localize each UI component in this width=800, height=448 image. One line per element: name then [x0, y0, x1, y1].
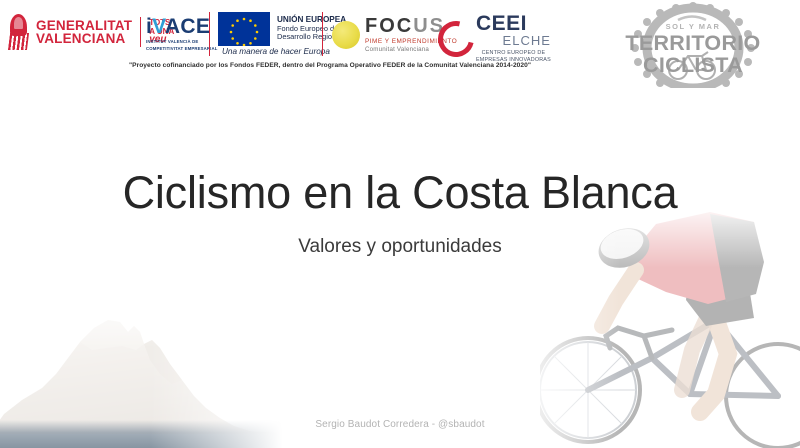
page-subtitle: Valores y oportunidades — [0, 235, 800, 259]
generalitat-divider — [140, 17, 141, 47]
ivace-sub-line2: COMPETITIVITAT EMPRESARIAL — [146, 46, 218, 51]
presentation-slide: GENERALITAT VALENCIANA TOTS A UNA veu iV… — [0, 0, 800, 448]
feder-disclaimer-text: "Proyecto cofinanciado por los Fondos FE… — [0, 62, 660, 69]
territorio-wordmark: TERRITORIO CICLISTA — [598, 32, 788, 76]
logo-divider-ivace-eu — [209, 12, 210, 56]
ceei-wordmark: CEEI — [476, 14, 527, 34]
generalitat-line2: VALENCIANA — [36, 32, 132, 46]
eu-flag-icon — [218, 12, 270, 46]
sponsor-logo-strip: GENERALITAT VALENCIANA TOTS A UNA veu iV… — [0, 0, 800, 72]
generalitat-crest-icon — [8, 14, 29, 50]
territorio-sol-y-mar: SOL Y MAR — [598, 22, 788, 31]
eu-tagline: Una manera de hacer Europa — [222, 47, 330, 56]
ivace-letter-v: V — [152, 15, 165, 38]
author-credit: Sergio Baudot Corredera - @sbaudot — [0, 419, 800, 430]
ceei-c-icon — [431, 14, 481, 64]
territorio-ciclista-logo: SOL Y MAR TERRITORIO CICLISTA — [598, 2, 788, 88]
ceei-city: ELCHE — [476, 34, 551, 47]
european-union-feder-logo: UNIÓN EUROPEA Fondo Europeo de Desarroll… — [218, 12, 346, 46]
ivace-sub-line1: INSTITUT VALENCIÀ DE — [146, 39, 218, 44]
focus-word-foc: FOC — [365, 15, 413, 37]
ivace-logo: iVACE INSTITUT VALENCIÀ DE COMPETITIVITA… — [146, 16, 218, 52]
generalitat-line1: GENERALITAT — [36, 19, 132, 33]
ivace-letters-ace: ACE — [165, 15, 210, 38]
logo-divider-eu-focus — [322, 12, 323, 56]
ceei-elche-logo: CEEI ELCHE CENTRO EUROPEO DE EMPRESAS IN… — [438, 14, 551, 63]
ceei-sub-line1: CENTRO EUROPEO DE — [476, 50, 551, 57]
ivace-wordmark: iVACE — [146, 16, 218, 37]
page-title: Ciclismo en la Costa Blanca — [0, 168, 800, 218]
rock-fade-top — [0, 278, 320, 348]
focus-dot-icon — [332, 21, 360, 49]
